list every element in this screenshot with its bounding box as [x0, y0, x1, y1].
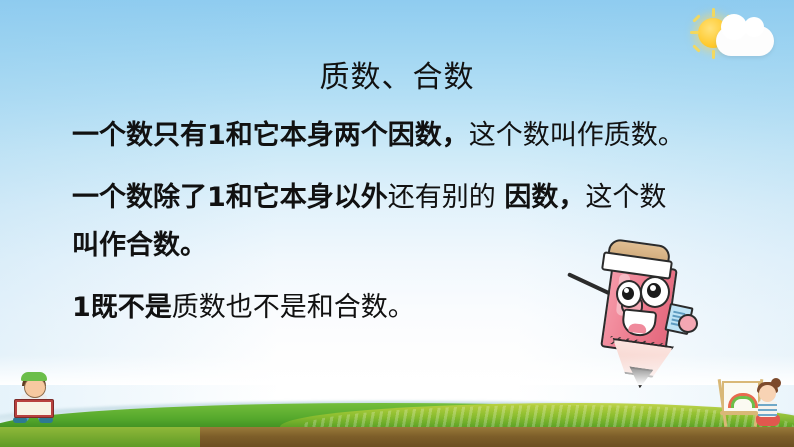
line4-bold: 1既不是 — [72, 292, 172, 323]
line1-bold: 一个数只有1和它本身两个因数， — [72, 120, 469, 151]
line2-regular: 还有别的 — [388, 182, 505, 213]
line2-bold-tail: 因数， — [504, 182, 585, 213]
right-eye-icon — [640, 276, 670, 308]
line1-regular: 这个数叫作质数。 — [469, 120, 685, 151]
line4-regular: 质数也不是和合数。 — [172, 292, 415, 323]
slide-canvas: 质数、合数 一个数只有1和它本身两个因数，这个数叫作质数。 一个数除了1和它本身… — [0, 0, 794, 447]
definition-line-composite-a: 一个数除了1和它本身以外还有别的 因数，这个数 — [72, 174, 772, 222]
child-reading-book-icon — [8, 375, 66, 423]
line3-bold: 叫作合数。 — [72, 230, 207, 261]
line2-regular-tail: 这个数 — [585, 182, 666, 213]
right-hand-icon — [678, 314, 698, 333]
definition-line-prime: 一个数只有1和它本身两个因数，这个数叫作质数。 — [72, 112, 772, 160]
line2-bold: 一个数除了1和它本身以外 — [72, 182, 388, 213]
ground-area — [0, 385, 794, 447]
grass-strip-left — [0, 427, 200, 447]
page-title: 质数、合数 — [0, 52, 794, 96]
left-eye-icon — [616, 280, 642, 308]
horizon-fade — [0, 355, 794, 385]
girl-painting-easel-icon — [712, 375, 784, 429]
